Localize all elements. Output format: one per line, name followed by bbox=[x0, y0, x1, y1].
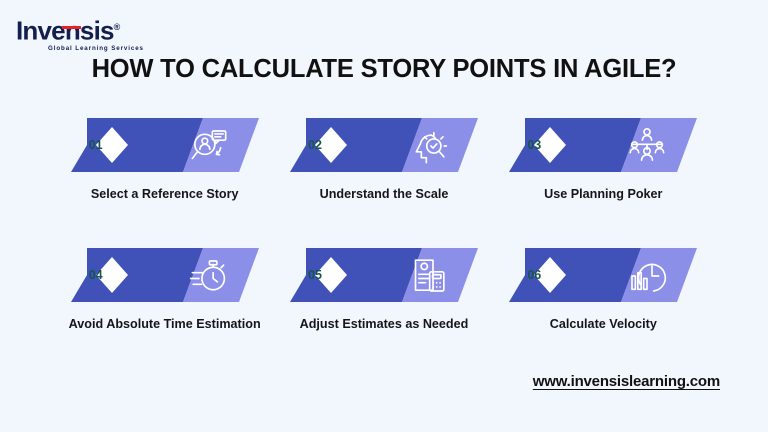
stopwatch-icon bbox=[189, 256, 229, 296]
step-label-02: Understand the Scale bbox=[283, 186, 484, 203]
website-link[interactable]: www.invensislearning.com bbox=[533, 373, 720, 390]
step-banner-02: 02 bbox=[290, 118, 478, 172]
chevron-shape-05 bbox=[290, 248, 478, 302]
chevron-shape-02 bbox=[290, 118, 478, 172]
page-title: HOW TO CALCULATE STORY POINTS IN AGILE? bbox=[0, 55, 768, 84]
step-banner-03: 03 bbox=[509, 118, 697, 172]
document-calculator-icon bbox=[408, 256, 448, 296]
logo-wordmark: Invensis® bbox=[16, 14, 146, 44]
head-magnifier-check-icon bbox=[408, 126, 448, 166]
chevron-shape-04 bbox=[71, 248, 259, 302]
step-label-05: Adjust Estimates as Needed bbox=[283, 316, 484, 333]
step-label-04: Avoid Absolute Time Estimation bbox=[64, 316, 265, 333]
chevron-shape-06 bbox=[509, 248, 697, 302]
step-card-04: 04 Avoid Absolute Time Estimation bbox=[64, 248, 265, 378]
magnifier-person-chat-icon bbox=[189, 126, 229, 166]
steps-grid: 01 Select a Reference Story bbox=[64, 118, 704, 378]
chevron-shape-01 bbox=[71, 118, 259, 172]
chevron-shape-03 bbox=[509, 118, 697, 172]
step-label-01: Select a Reference Story bbox=[64, 186, 265, 203]
logo-red-bar-icon bbox=[62, 26, 81, 29]
step-banner-06: 06 bbox=[509, 248, 697, 302]
logo-wordmark-text: Invensis bbox=[16, 16, 114, 46]
step-banner-05: 05 bbox=[290, 248, 478, 302]
step-banner-04: 04 bbox=[71, 248, 259, 302]
step-card-05: 05 Adjust Estima bbox=[283, 248, 484, 378]
logo-tagline: Global Learning Services bbox=[48, 45, 146, 52]
step-card-06: 06 Calculate Velocity bbox=[503, 248, 704, 378]
brand-logo: Invensis® Global Learning Services bbox=[16, 14, 146, 48]
step-label-06: Calculate Velocity bbox=[503, 316, 704, 333]
team-meeting-icon bbox=[627, 126, 667, 166]
step-label-03: Use Planning Poker bbox=[503, 186, 704, 203]
logo-registered-mark: ® bbox=[114, 22, 120, 32]
bar-chart-clock-icon bbox=[627, 256, 667, 296]
step-banner-01: 01 bbox=[71, 118, 259, 172]
step-card-01: 01 Select a Reference Story bbox=[64, 118, 265, 248]
step-card-03: 03 Use Planning Poker bbox=[503, 118, 704, 248]
step-card-02: 02 Understand the Scale bbox=[283, 118, 484, 248]
